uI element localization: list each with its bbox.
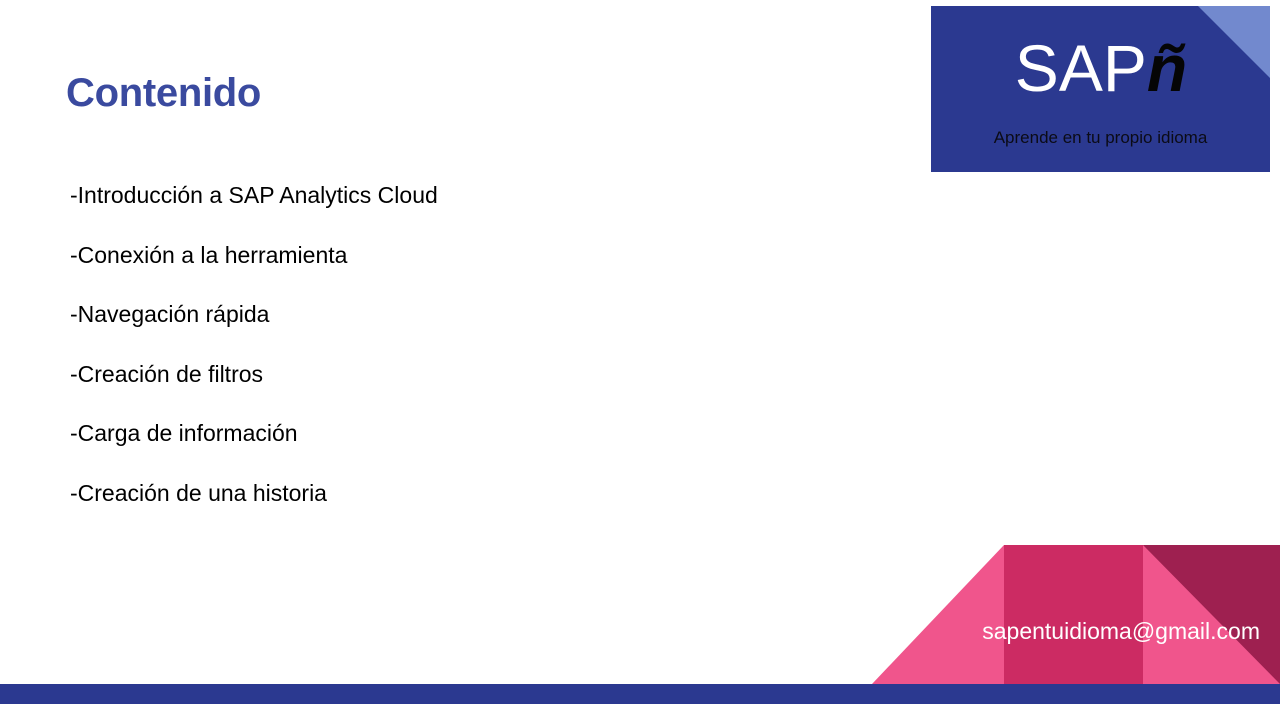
footer-bar: [0, 684, 1280, 704]
triangle-shape-right: [1143, 545, 1280, 684]
list-item: -Creación de una historia: [70, 482, 770, 505]
brand-logo: SAPñ Aprende en tu propio idioma: [931, 6, 1270, 172]
logo-wordmark-main: SAP: [1015, 31, 1147, 105]
logo-wordmark: SAPñ: [931, 35, 1270, 101]
logo-wordmark-accent: ñ: [1147, 31, 1186, 105]
decorative-shapes: [860, 530, 1280, 685]
list-item: -Conexión a la herramienta: [70, 244, 770, 267]
list-item: -Carga de información: [70, 422, 770, 445]
list-item: -Introducción a SAP Analytics Cloud: [70, 184, 770, 207]
list-item: -Creación de filtros: [70, 363, 770, 386]
content-list: -Introducción a SAP Analytics Cloud -Con…: [70, 184, 770, 541]
list-item: -Navegación rápida: [70, 303, 770, 326]
contact-email: sapentuidioma@gmail.com: [860, 618, 1260, 645]
logo-tagline: Aprende en tu propio idioma: [931, 128, 1270, 148]
triangle-shape-left: [872, 545, 1004, 684]
page-title: Contenido: [66, 71, 261, 116]
block-shape-mid: [1004, 545, 1143, 684]
presentation-slide: Contenido -Introducción a SAP Analytics …: [0, 0, 1280, 704]
